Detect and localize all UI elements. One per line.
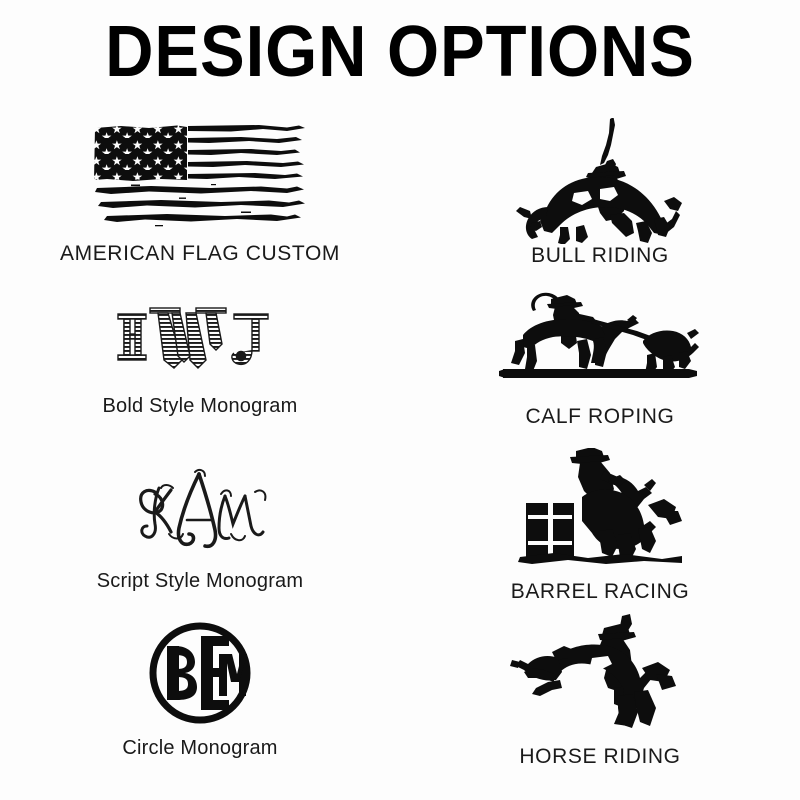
design-option-label: HORSE RIDING	[519, 745, 680, 769]
barrel-racing-silhouette-art	[400, 448, 800, 566]
design-option-bull-riding[interactable]: BULL RIDING	[400, 118, 800, 283]
design-options-page: DESIGN OPTIONS	[0, 0, 800, 800]
design-option-american-flag-custom[interactable]: AMERICAN FLAG CUSTOM	[0, 118, 400, 283]
bull-riding-silhouette-art	[400, 118, 800, 244]
design-option-circle-monogram[interactable]: Circle Monogram	[0, 613, 400, 785]
horse-riding-silhouette-art	[400, 613, 800, 733]
design-option-label: CALF ROPING	[526, 405, 675, 429]
design-option-label: BARREL RACING	[511, 580, 690, 604]
page-title: DESIGN OPTIONS	[28, 14, 772, 90]
calf-roping-silhouette-art	[400, 283, 800, 391]
design-option-calf-roping[interactable]: CALF ROPING	[400, 283, 800, 448]
design-options-grid: AMERICAN FLAG CUSTOM	[0, 118, 800, 798]
design-option-label: Bold Style Monogram	[102, 395, 297, 418]
design-option-label: Circle Monogram	[122, 737, 277, 760]
script-monogram-kam-art	[0, 448, 400, 566]
distressed-american-flag-art	[0, 118, 400, 238]
bold-monogram-hwj-art	[0, 283, 400, 391]
design-option-label: BULL RIDING	[531, 244, 669, 268]
design-option-label: Script Style Monogram	[97, 570, 304, 593]
design-option-bold-style-monogram[interactable]: Bold Style Monogram	[0, 283, 400, 448]
design-option-barrel-racing[interactable]: BARREL RACING	[400, 448, 800, 613]
circle-monogram-bem-art	[0, 613, 400, 733]
design-option-script-style-monogram[interactable]: Script Style Monogram	[0, 448, 400, 613]
design-option-label: AMERICAN FLAG CUSTOM	[60, 242, 340, 266]
design-option-horse-riding[interactable]: HORSE RIDING	[400, 613, 800, 785]
